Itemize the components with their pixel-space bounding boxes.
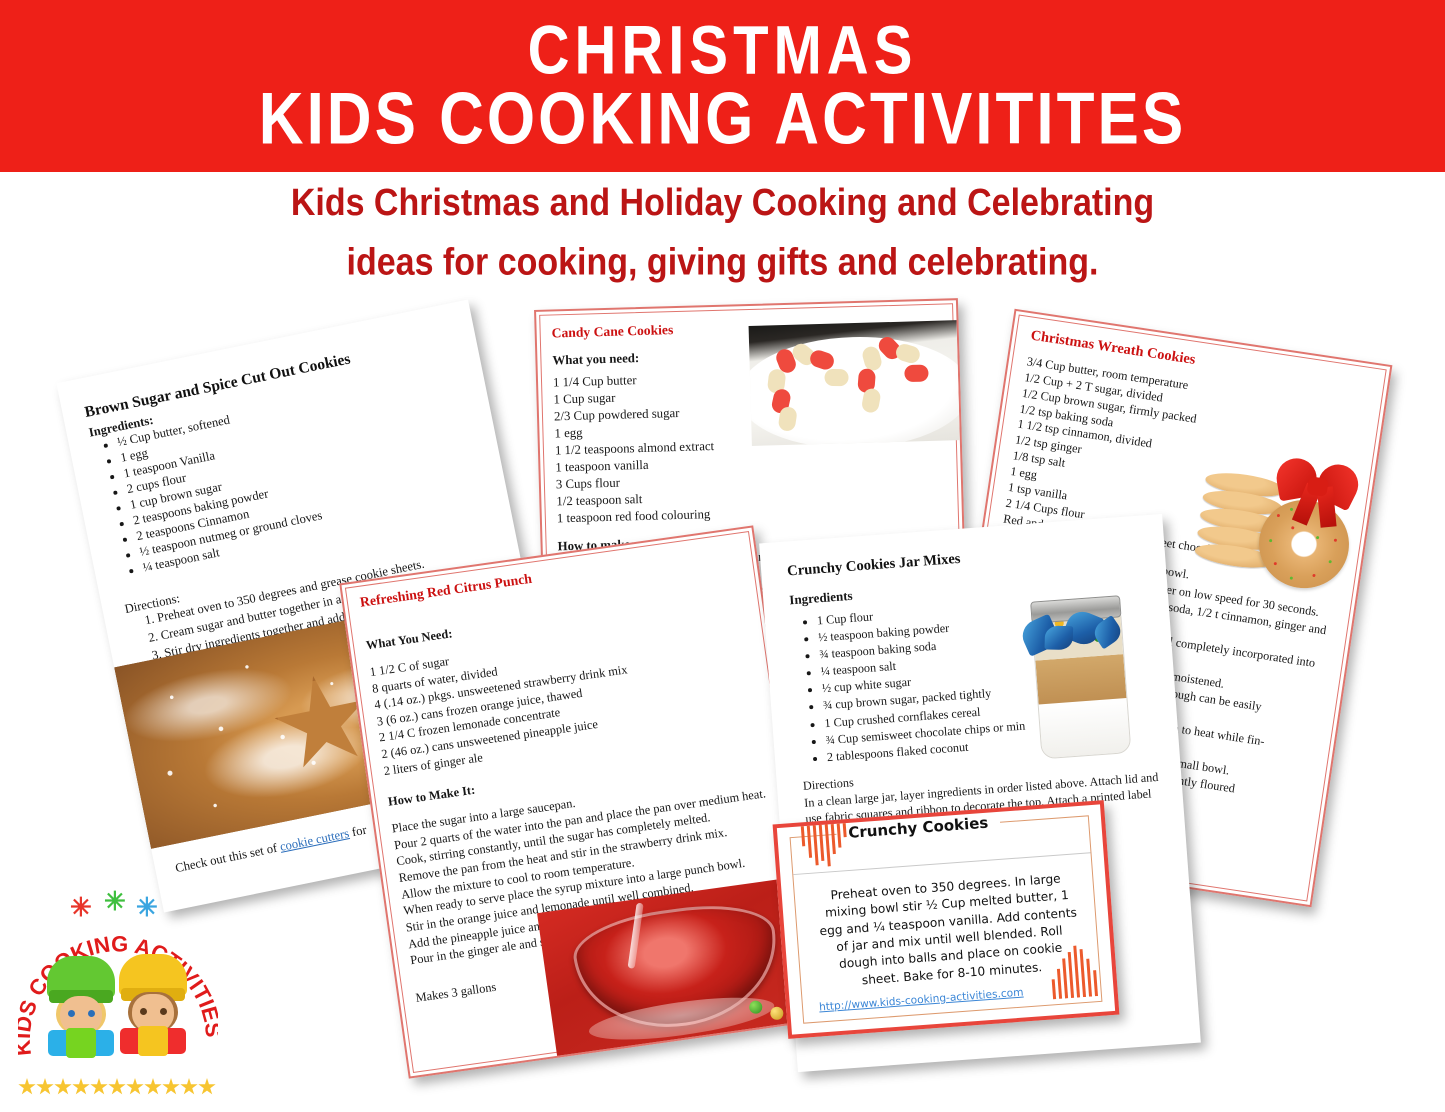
cookie-mix-jar-photo (1015, 582, 1145, 765)
chef-eye (88, 1010, 95, 1017)
star-icon (36, 1078, 54, 1096)
banner-title-line1: CHRISTMAS (528, 15, 918, 85)
red-bow-icon (1272, 452, 1366, 524)
banner-title-line2: KIDS COOKING ACTIVITITES (259, 82, 1186, 157)
subtitle-block: Kids Christmas and Holiday Cooking and C… (0, 174, 1445, 292)
label-website-link[interactable]: http://www.kids-cooking-activities.com (819, 987, 1024, 1014)
subtitle-line1: Kids Christmas and Holiday Cooking and C… (0, 174, 1445, 233)
chef-eye (160, 1008, 167, 1015)
star-icon (18, 1078, 36, 1096)
star-icon (180, 1078, 198, 1096)
caption-prefix: Check out this set of (174, 840, 281, 875)
subtitle-line2: ideas for cooking, giving gifts and cele… (0, 233, 1445, 292)
punch-title: Refreshing Red Citrus Punch (359, 571, 533, 611)
candy-cane-cookies-photo (749, 320, 960, 446)
star-icon (144, 1078, 162, 1096)
caption-suffix: for (348, 823, 368, 840)
candy-cane-cookie-1 (765, 341, 845, 427)
star-icon (90, 1078, 108, 1096)
stripes-decoration-bottom (1034, 944, 1100, 1000)
star-icon (108, 1078, 126, 1096)
girl-chef-avatar (116, 954, 190, 1050)
header-banner: CHRISTMAS KIDS COOKING ACTIVITITES (0, 0, 1445, 172)
ornament-bead (769, 1006, 784, 1021)
chef-eye (68, 1010, 75, 1017)
jar-layer-brown-sugar (1035, 654, 1126, 704)
chef-apron (138, 1026, 168, 1056)
star-icon (198, 1078, 216, 1096)
candy-cane-cookie-2 (841, 335, 927, 423)
star-icon (72, 1078, 90, 1096)
christmas-wreath-cookies-photo (1186, 435, 1374, 608)
star-icon (126, 1078, 144, 1096)
star-icon (162, 1078, 180, 1096)
logo-star-row (18, 1078, 218, 1100)
recipe-card-red-citrus-punch[interactable]: Refreshing Red Citrus Punch What You Nee… (339, 525, 823, 1078)
cookie-cutters-link[interactable]: cookie cutters (279, 826, 351, 854)
chef-apron (66, 1028, 96, 1058)
chef-eye (140, 1008, 147, 1015)
blue-ribbon-icon (1019, 606, 1134, 658)
jar-layer-white-bottom (1039, 698, 1131, 758)
printable-label-crunchy-cookies[interactable]: Crunchy Cookies Preheat oven to 350 degr… (773, 800, 1120, 1039)
kids-cooking-activities-logo[interactable]: ✳ ✳ ✳ KIDS COOKING ACTIVITIES (18, 886, 218, 1098)
boy-chef-avatar (44, 956, 118, 1052)
star-icon (54, 1078, 72, 1096)
